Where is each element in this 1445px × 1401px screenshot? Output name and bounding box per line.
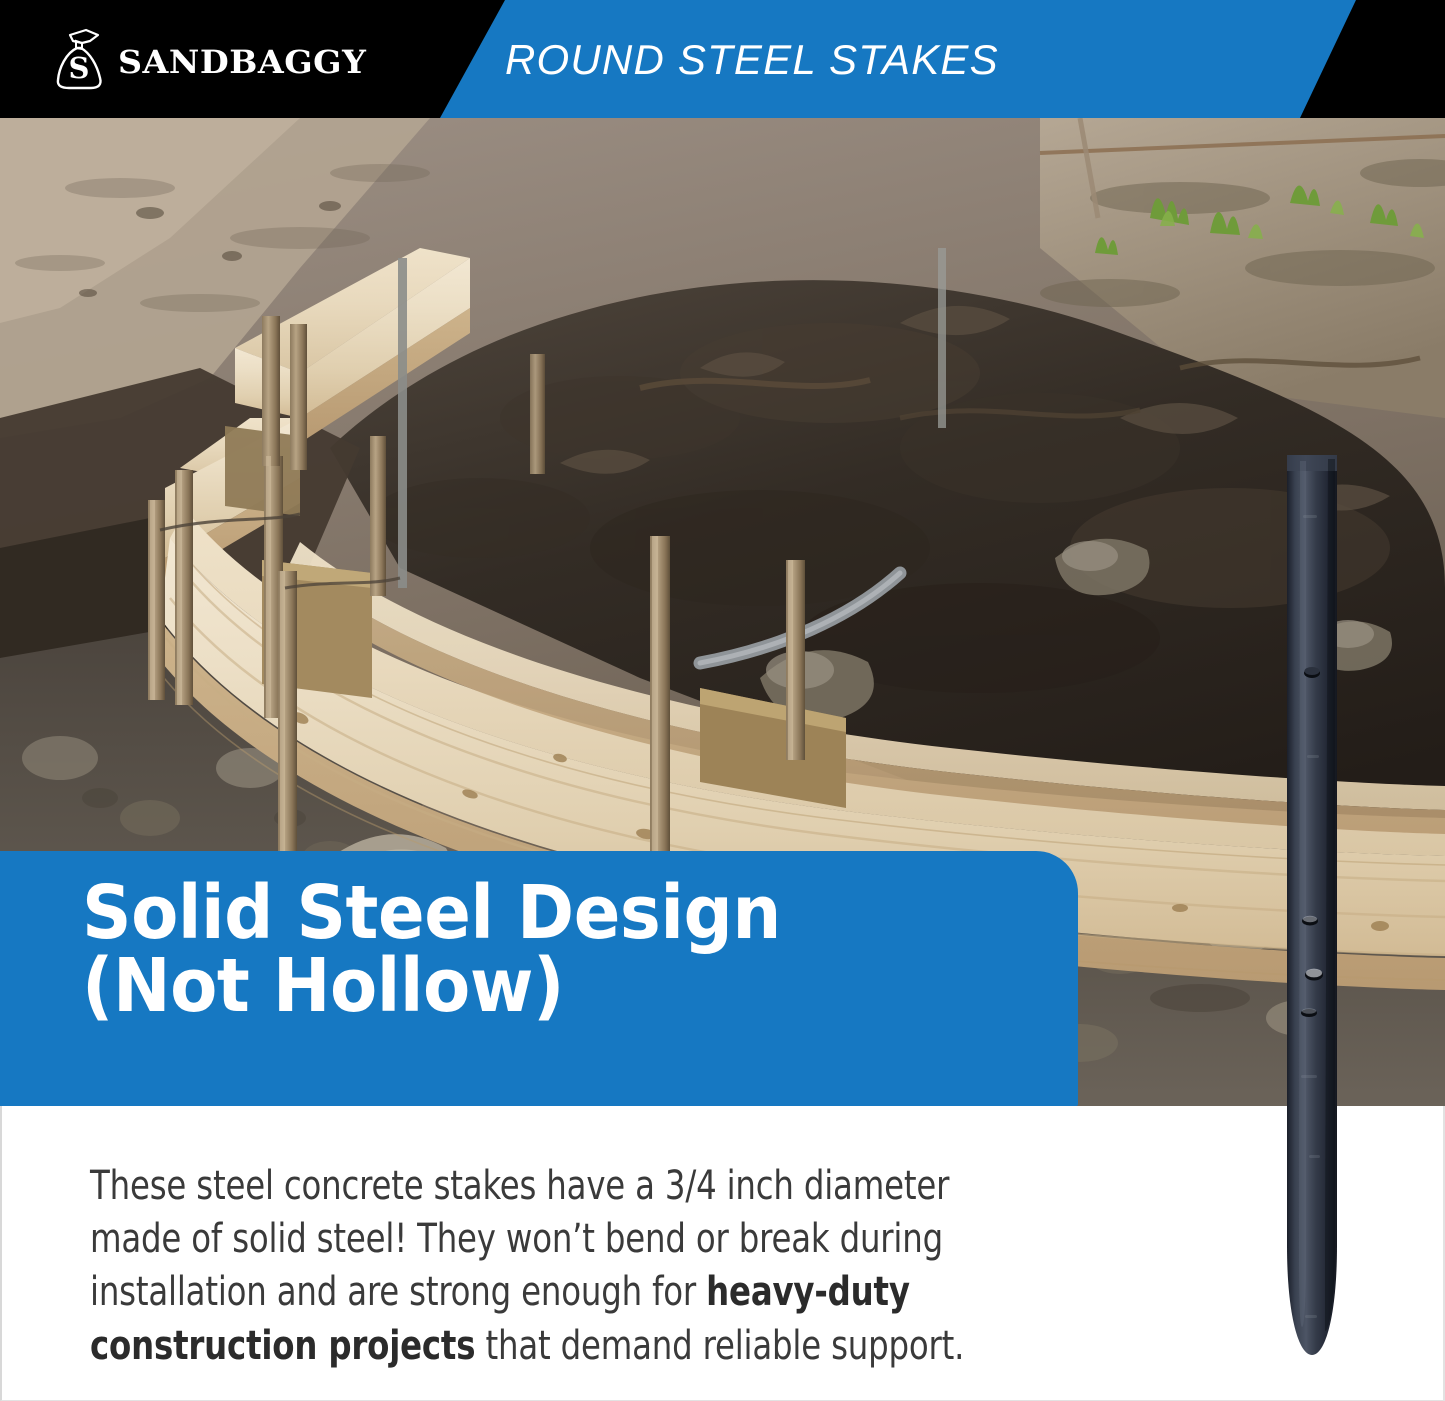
brand-logo: S SANDBAGGY <box>52 22 357 92</box>
headline-panel: Solid Steel Design (Not Hollow) <box>0 851 1078 1106</box>
header-title: ROUND STEEL STAKES <box>505 36 999 84</box>
svg-text:S: S <box>69 51 90 85</box>
description-text: These steel concrete stakes have a 3/4 i… <box>90 1160 1044 1373</box>
brand-name: SANDBAGGY <box>118 35 366 80</box>
product-infographic: S SANDBAGGY ROUND STEEL STAKES <box>0 0 1445 1401</box>
steel-stake-product <box>1281 455 1343 1361</box>
description-part-2: that demand reliable support. <box>475 1323 964 1369</box>
header-bar: S SANDBAGGY ROUND STEEL STAKES <box>0 0 1445 118</box>
description-section: These steel concrete stakes have a 3/4 i… <box>0 1106 1445 1401</box>
headline-text: Solid Steel Design (Not Hollow) <box>82 877 971 1024</box>
sandbag-icon: S <box>52 22 104 92</box>
